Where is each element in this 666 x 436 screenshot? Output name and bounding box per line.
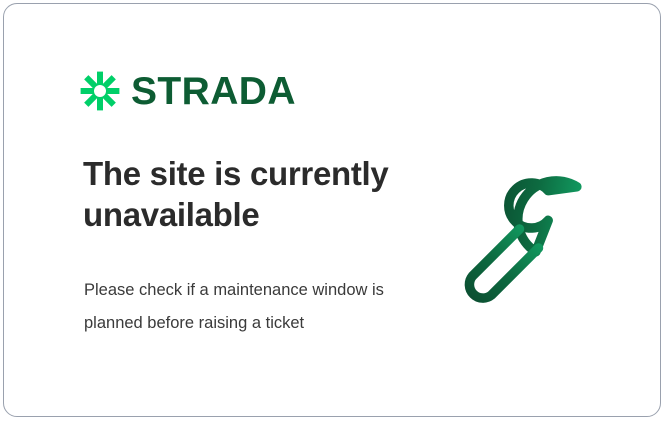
page-description: Please check if a maintenance window is … <box>84 274 384 340</box>
brand-name: STRADA <box>131 72 296 111</box>
page-title: The site is currently unavailable <box>83 154 423 236</box>
strada-asterisk-icon <box>80 71 120 111</box>
wrench-icon <box>459 159 619 314</box>
status-card: STRADA The site is currently unavailable… <box>3 3 661 417</box>
brand-lockup: STRADA <box>80 71 296 111</box>
